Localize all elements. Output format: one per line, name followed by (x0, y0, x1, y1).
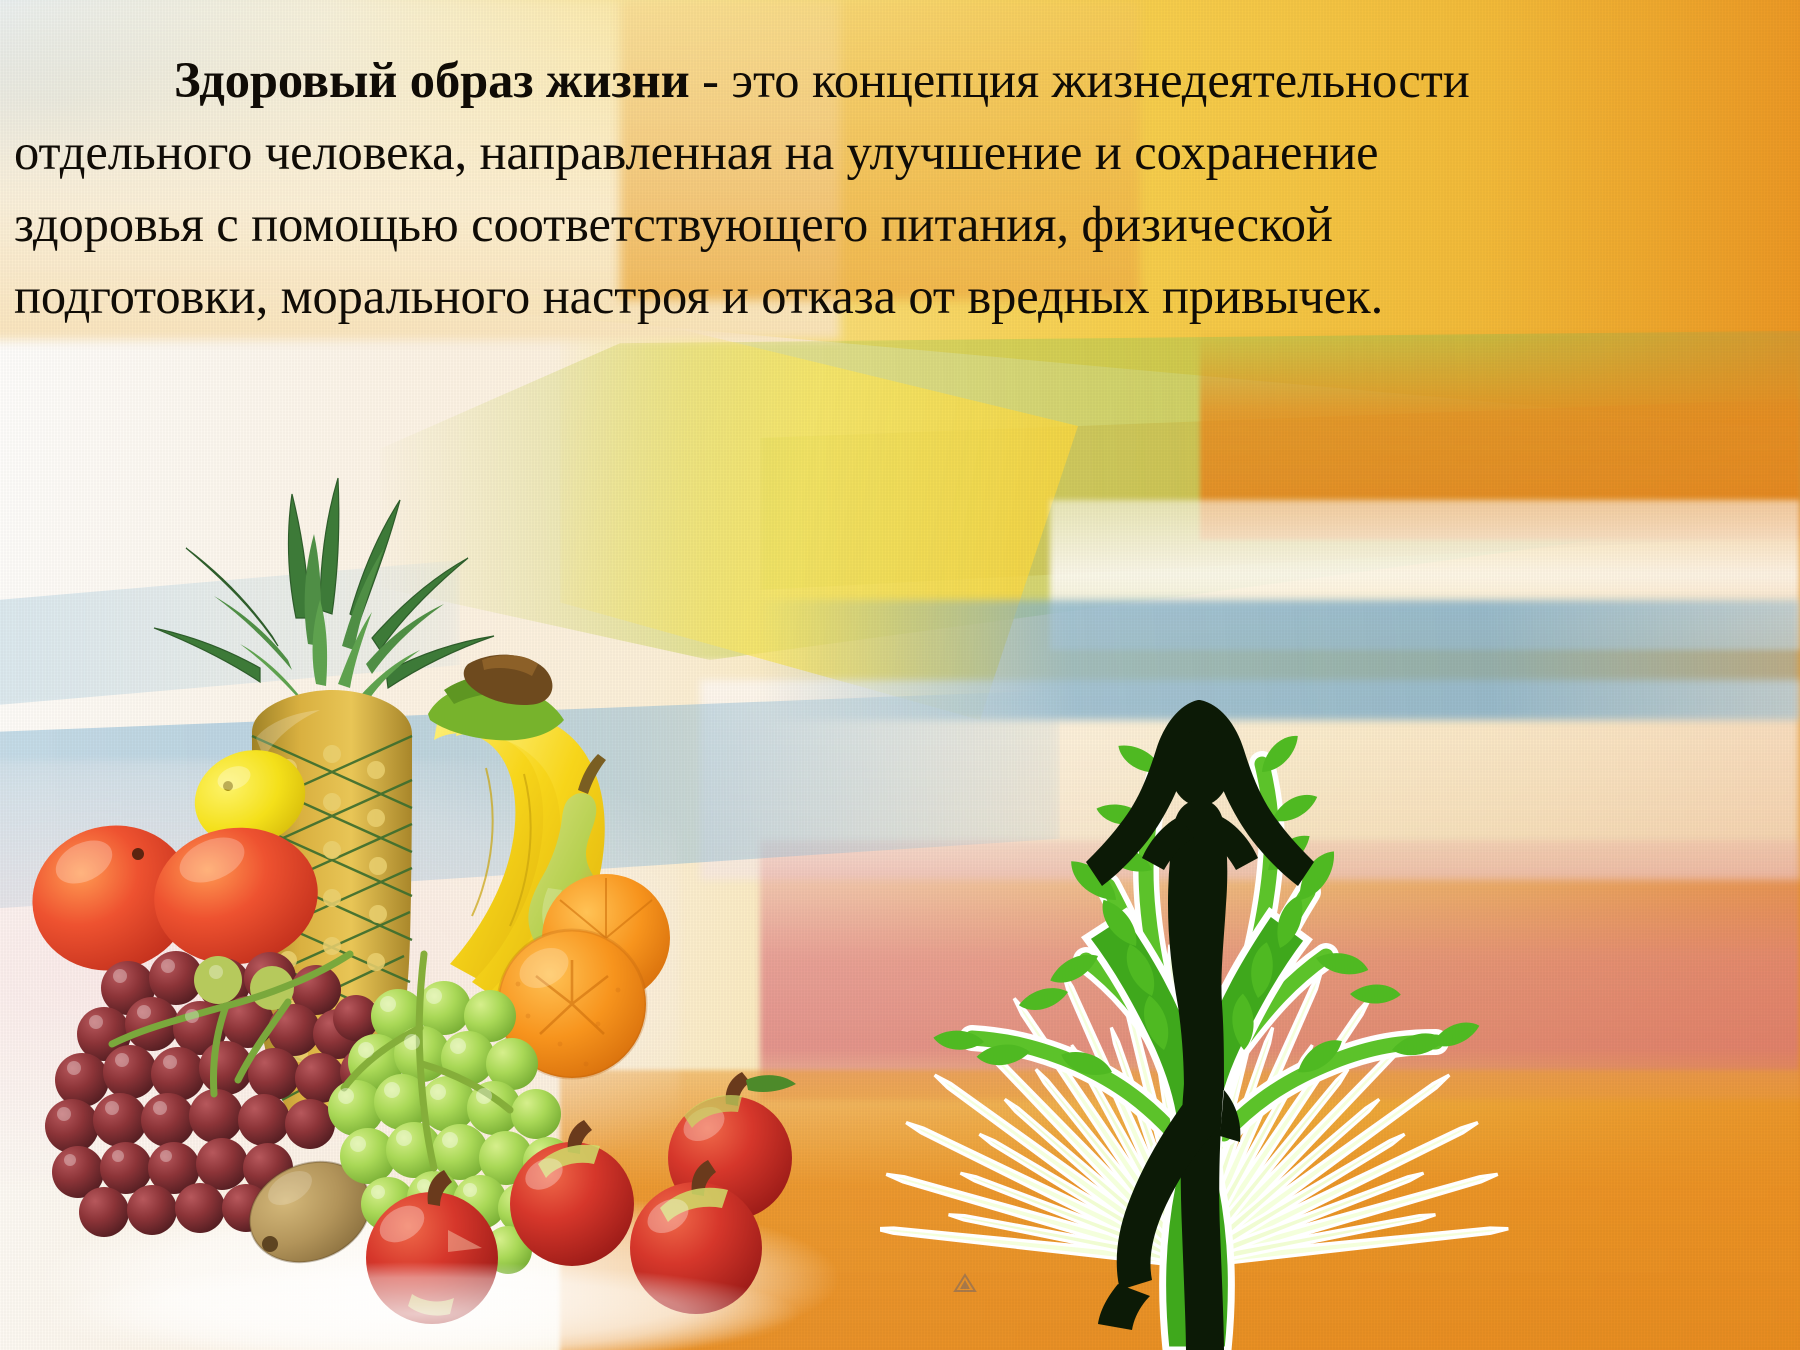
fruit-arrangement-illustration (20, 468, 840, 1350)
pineapple-leaves (154, 478, 494, 704)
title-bold: Здоровый образ жизни (174, 52, 690, 108)
slide-text-block: Здоровый образ жизни - это концепция жиз… (14, 44, 1574, 332)
slide-canvas: Здоровый образ жизни - это концепция жиз… (0, 0, 1800, 1350)
tree-of-life-illustration (880, 400, 1520, 1350)
apple-mid (510, 1120, 634, 1266)
watermark-icon (952, 1272, 978, 1294)
